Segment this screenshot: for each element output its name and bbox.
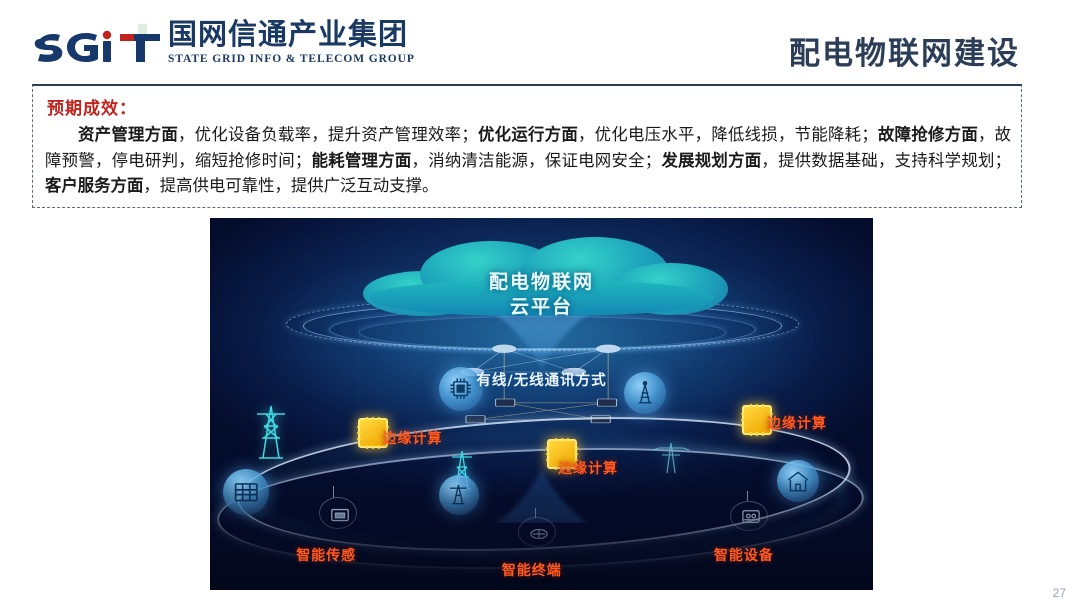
brand-text: 国网信通产业集团 STATE GRID INFO & TELECOM GROUP [168,20,415,67]
cloud-label-line1: 配电物联网 [210,270,873,295]
label-edge-computing-right: 边缘计算 [767,413,827,433]
label-smart-sensing: 智能传感 [296,545,356,565]
expected-results-body: 资产管理方面，优化设备负载率，提升资产管理效率；优化运行方面，优化电压水平，降低… [45,122,1011,199]
label-edge-computing-left: 边缘计算 [382,428,442,448]
transmission-tower-icon-3 [651,441,691,475]
expected-results-heading: 预期成效： [47,94,137,119]
page-title: 配电物联网建设 [789,28,1020,73]
cloud-label-line2: 云平台 [210,295,873,320]
label-edge-computing-mid: 边缘计算 [558,458,618,478]
page-number: 27 [1053,586,1066,600]
sgit-logo-icon [34,23,160,67]
label-smart-device: 智能设备 [714,545,774,565]
brand-logo: 国网信通产业集团 STATE GRID INFO & TELECOM GROUP [34,20,415,67]
expected-results-box: 预期成效： 资产管理方面，优化设备负载率，提升资产管理效率；优化运行方面，优化电… [32,84,1022,208]
page-header: 国网信通产业集团 STATE GRID INFO & TELECOM GROUP… [0,0,1080,84]
cloud-platform-label: 配电物联网 云平台 [210,270,873,320]
communication-mode-label: 有线/无线通讯方式 [210,369,873,390]
transmission-tower-icon-1 [253,404,289,460]
label-smart-terminal: 智能终端 [502,560,562,580]
brand-name-cn: 国网信通产业集团 [168,20,415,49]
iot-architecture-illustration: 配电物联网 云平台 [210,218,873,590]
brand-name-en: STATE GRID INFO & TELECOM GROUP [168,53,415,65]
